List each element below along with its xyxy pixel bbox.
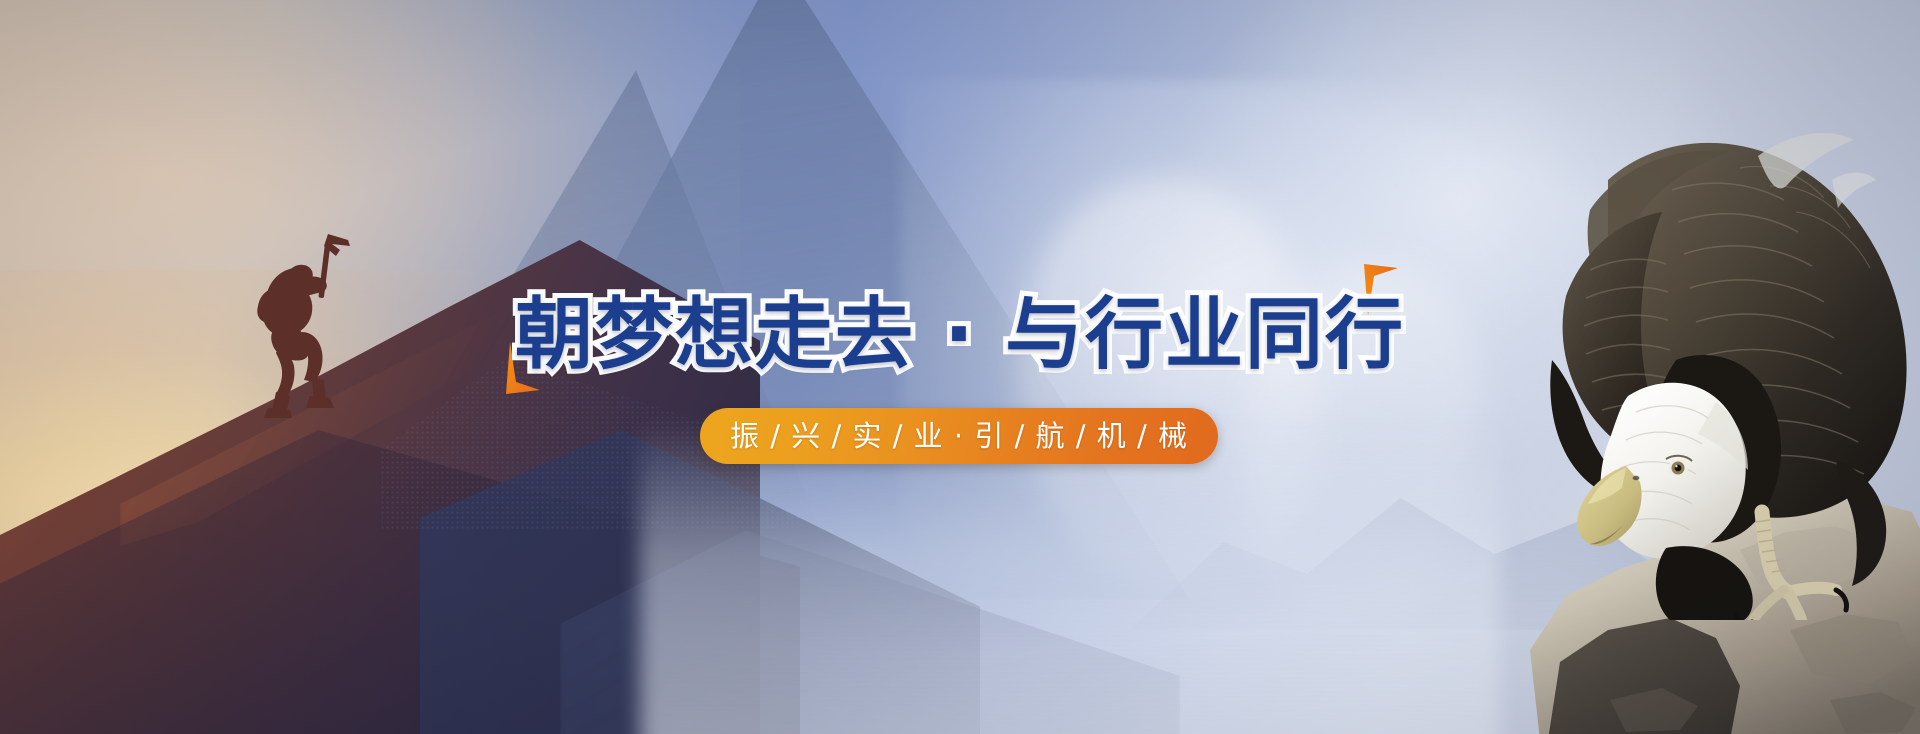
bald-eagle-illustration bbox=[1440, 60, 1920, 620]
tagline-badge: 振 / 兴 / 实 / 业 · 引 / 航 / 机 / 械 bbox=[700, 408, 1218, 464]
accent-arrow-bottom-left-icon bbox=[494, 342, 540, 398]
accent-arrow-top-right-icon bbox=[1352, 260, 1398, 316]
climber-silhouette bbox=[236, 228, 386, 418]
tagline-badge-text: 振 / 兴 / 实 / 业 · 引 / 航 / 机 / 械 bbox=[730, 422, 1188, 451]
mist-layer-lower bbox=[640, 420, 1500, 734]
hero-banner: 朝梦想走去 · 与行业同行 振 / 兴 / 实 / 业 · 引 / 航 / 机 … bbox=[0, 0, 1920, 734]
